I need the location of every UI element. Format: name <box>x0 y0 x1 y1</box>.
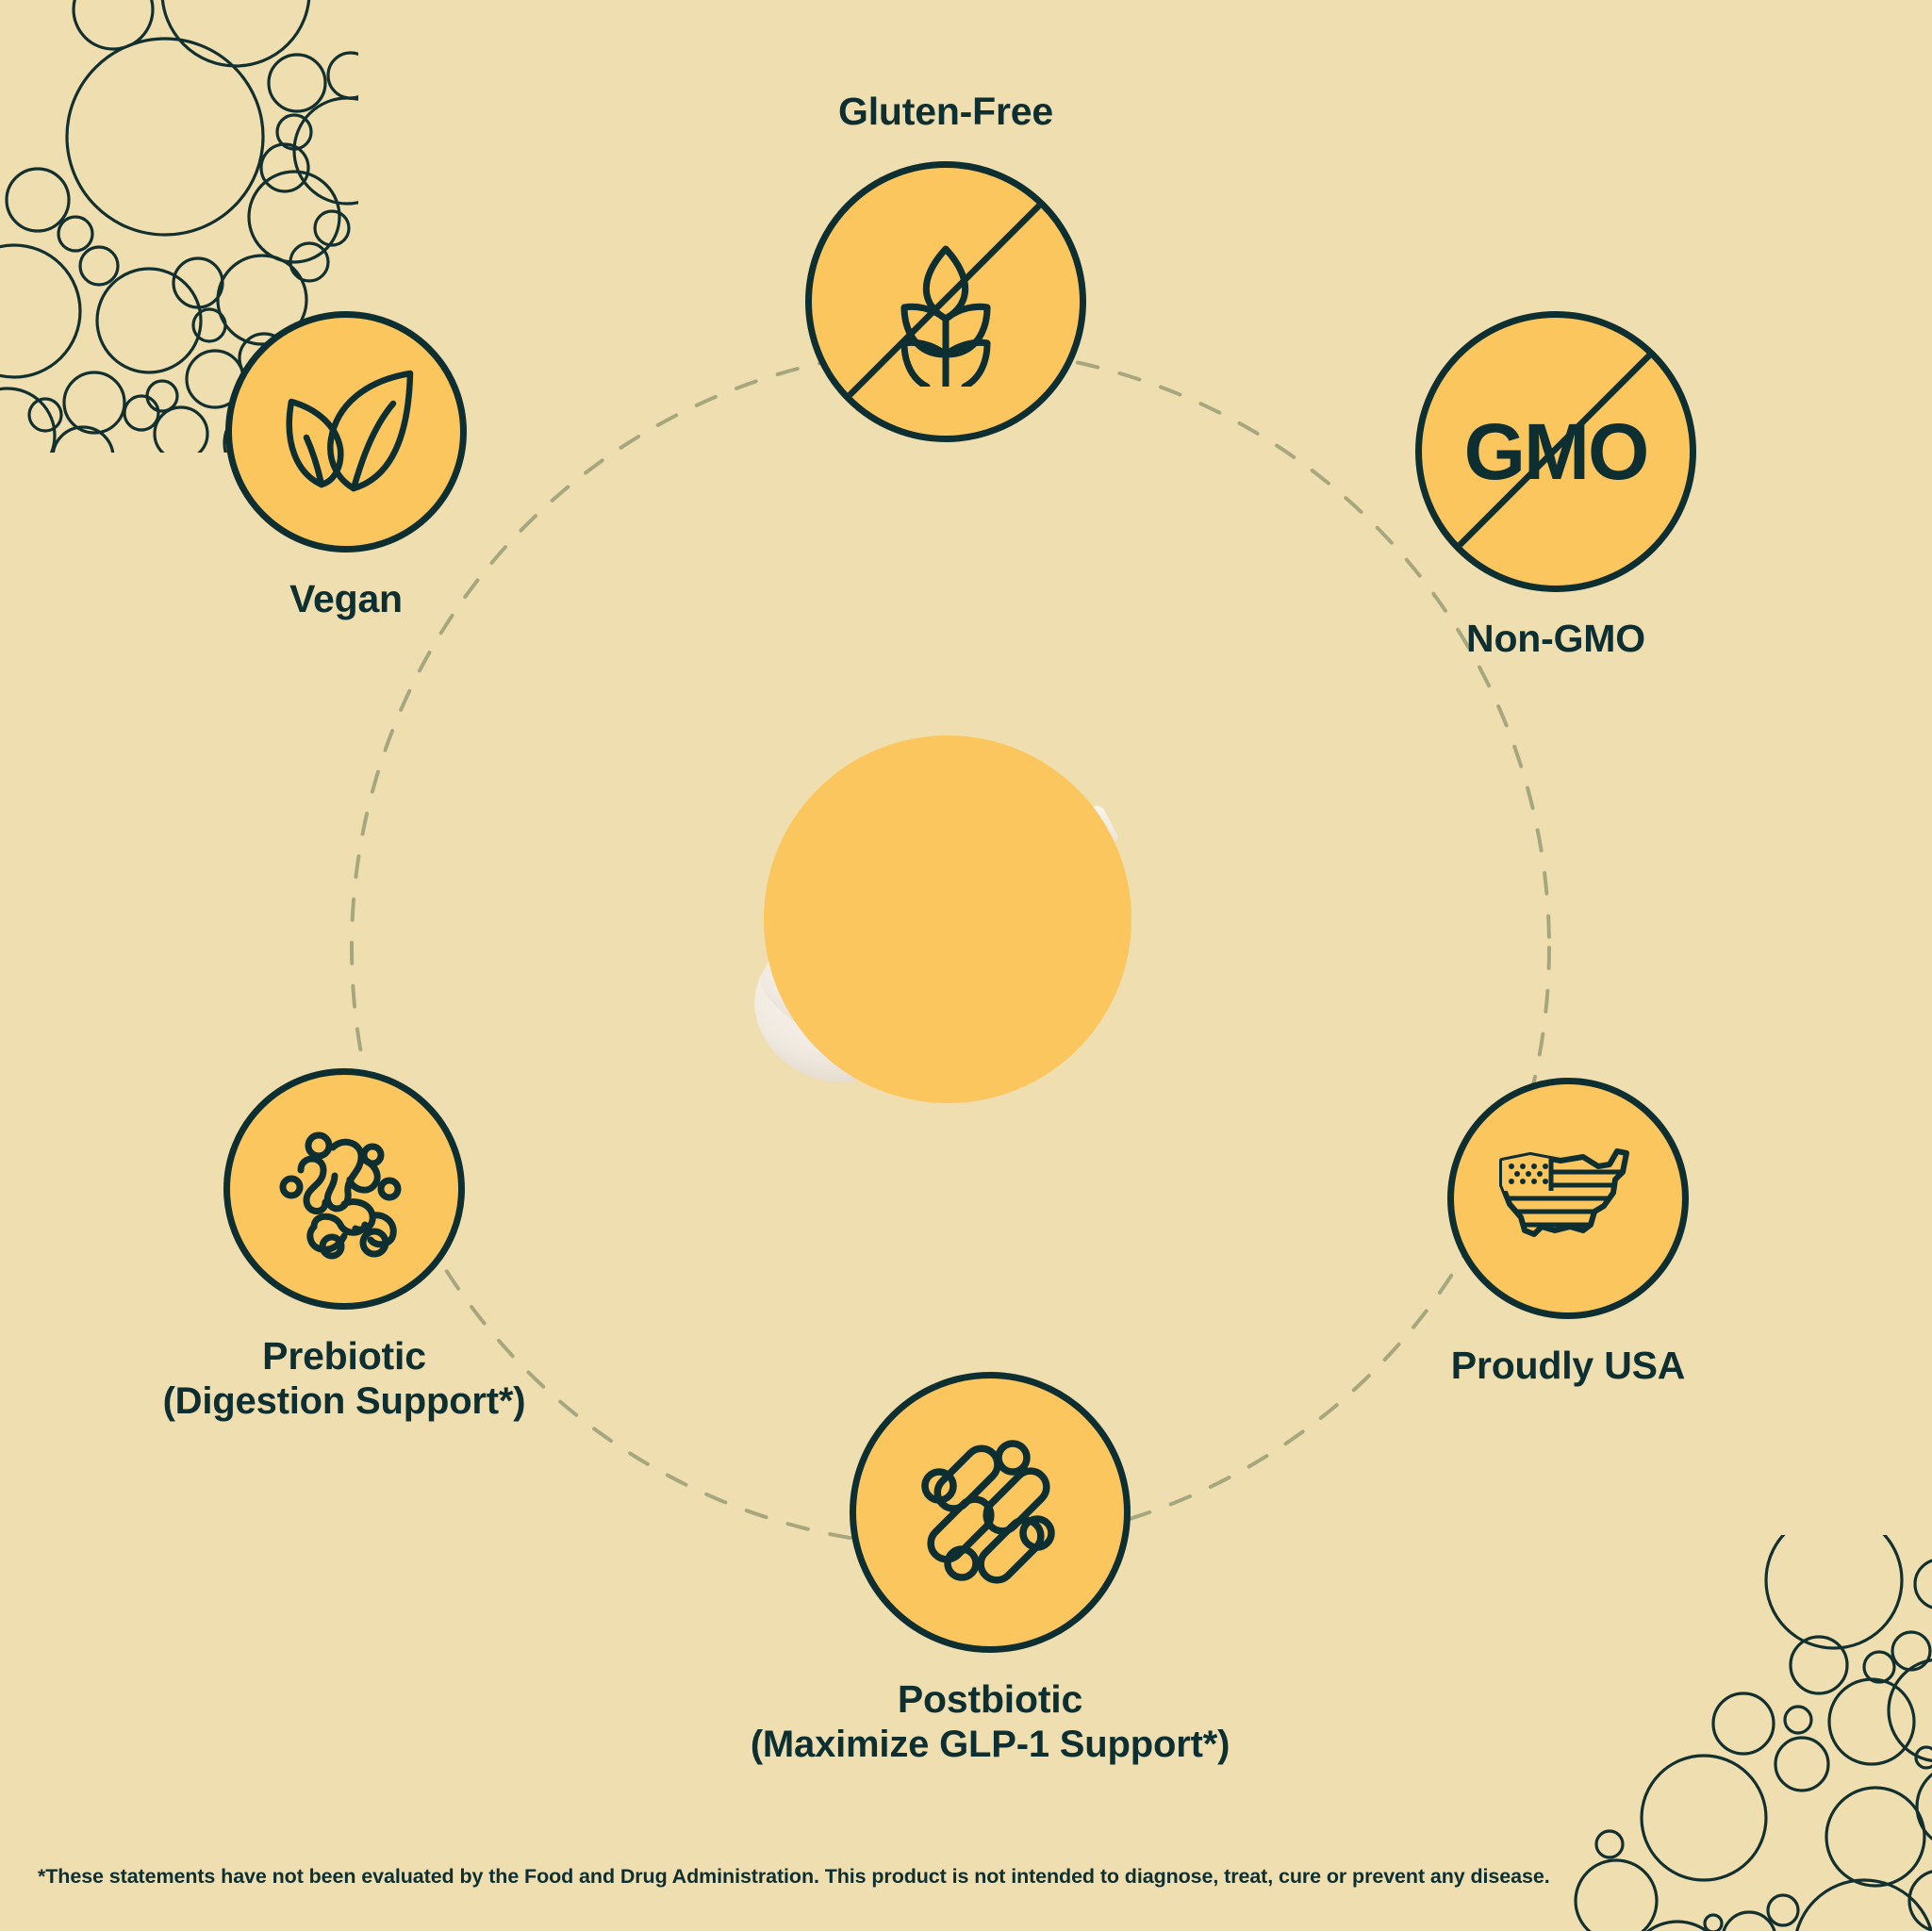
badge-circle-vegan <box>225 311 467 553</box>
product-photo <box>717 717 1160 1160</box>
badge-circle-prebiotic <box>223 1068 465 1310</box>
badge-label-vegan: Vegan <box>289 577 403 622</box>
fda-disclaimer: *These statements have not been evaluate… <box>38 1865 1550 1889</box>
badge-circle-postbiotic <box>850 1372 1131 1653</box>
badge-prebiotic[interactable]: Prebiotic (Digestion Support*) <box>118 1068 570 1423</box>
badge-label-non-gmo: Non-GMO <box>1466 617 1645 662</box>
microbiome-icon <box>265 1110 423 1268</box>
badge-circle-gluten-free <box>805 161 1086 442</box>
badge-label-prebiotic: Prebiotic <box>262 1334 426 1379</box>
usa-flag-map-icon <box>1493 1144 1643 1253</box>
badge-non-gmo[interactable]: GMO Non-GMO <box>1348 311 1763 662</box>
badge-sublabel-postbiotic: (Maximize GLP-1 Support*) <box>751 1723 1230 1766</box>
badge-gluten-free[interactable]: Gluten-Free <box>738 90 1153 442</box>
badge-circle-non-gmo: GMO <box>1415 311 1696 592</box>
badge-postbiotic[interactable]: Postbiotic (Maximize GLP-1 Support*) <box>754 1372 1226 1766</box>
wheat-slashed-icon <box>861 217 1031 387</box>
bubble-pattern-icon <box>1564 1535 1932 1931</box>
benefits-infographic: Gluten-Free <box>0 0 1932 1931</box>
badge-label-gluten-free: Gluten-Free <box>838 90 1053 135</box>
badge-sublabel-prebiotic: (Digestion Support*) <box>163 1379 526 1423</box>
product-photo-backdrop <box>764 735 1131 1103</box>
gmo-text: GMO <box>1464 412 1648 491</box>
badge-label-proudly-usa: Proudly USA <box>1451 1344 1685 1389</box>
badge-circle-proudly-usa <box>1447 1078 1689 1319</box>
badge-vegan[interactable]: Vegan <box>139 311 553 622</box>
leaves-icon <box>267 360 425 503</box>
badge-label-postbiotic: Postbiotic <box>898 1677 1082 1723</box>
bacteria-rods-icon <box>907 1429 1073 1595</box>
badge-proudly-usa[interactable]: Proudly USA <box>1361 1078 1775 1389</box>
